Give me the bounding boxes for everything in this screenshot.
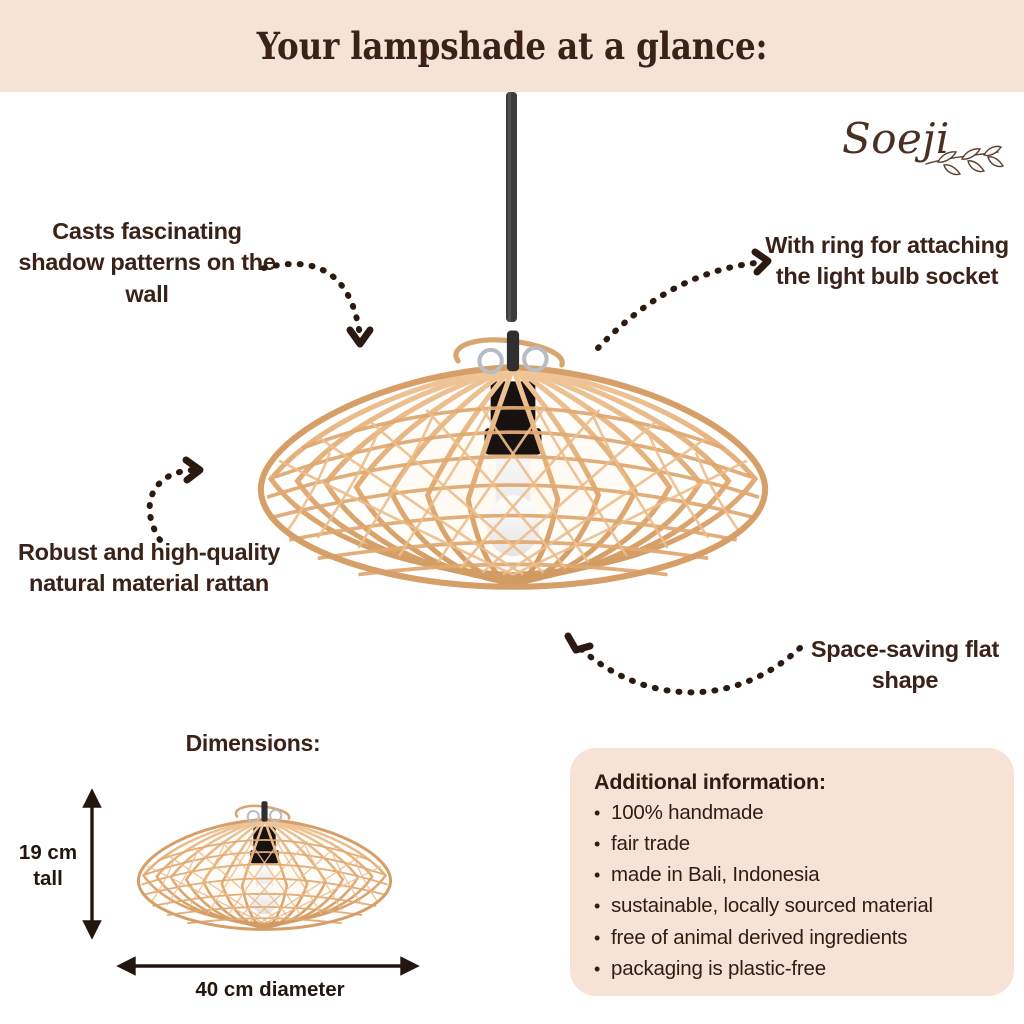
dimension-arrows bbox=[85, 792, 416, 973]
info-card-item: •fair trade bbox=[594, 828, 994, 859]
additional-information-card: Additional information: •100% handmade•f… bbox=[570, 748, 1014, 996]
rattan-arrowhead bbox=[186, 460, 200, 480]
bullet-icon: • bbox=[594, 893, 611, 920]
hanging-cord bbox=[506, 92, 517, 322]
flat-arrow-path bbox=[580, 648, 800, 692]
info-card-item-label: 100% handmade bbox=[611, 797, 763, 828]
info-card-item-label: made in Bali, Indonesia bbox=[611, 859, 820, 890]
info-card-list: •100% handmade•fair trade•made in Bali, … bbox=[594, 797, 994, 984]
info-card-item-label: sustainable, locally sourced material bbox=[611, 890, 933, 921]
header-banner: Your lampshade at a glance: bbox=[0, 0, 1024, 92]
leaf-branch-icon bbox=[838, 112, 1010, 190]
bullet-icon: • bbox=[594, 831, 611, 858]
bullet-icon: • bbox=[594, 800, 611, 827]
width-arrow-right-head bbox=[402, 959, 416, 973]
info-card-title: Additional information: bbox=[594, 770, 994, 795]
callout-shadow-patterns: Casts fascinating shadow patterns on the… bbox=[8, 216, 286, 310]
lampshade-main bbox=[261, 331, 765, 587]
dimension-height-label: 19 cm tall bbox=[8, 840, 88, 891]
dimension-height-value: 19 cm bbox=[8, 840, 88, 866]
shadow-arrowhead bbox=[350, 330, 370, 344]
callout-material-rattan: Robust and high-quality natural material… bbox=[14, 537, 284, 600]
width-arrow-left-head bbox=[120, 959, 134, 973]
bullet-icon: • bbox=[594, 862, 611, 889]
info-card-item: •100% handmade bbox=[594, 797, 994, 828]
dimensions-title: Dimensions: bbox=[108, 730, 398, 757]
ring-arrow-path bbox=[598, 262, 764, 348]
rattan-arrow-path bbox=[150, 470, 196, 540]
info-card-item-label: free of animal derived ingredients bbox=[611, 922, 907, 953]
brand-logo: Soeji bbox=[838, 112, 1010, 190]
info-card-item-label: fair trade bbox=[611, 828, 690, 859]
info-card-item: •made in Bali, Indonesia bbox=[594, 859, 994, 890]
callout-flat-shape: Space-saving flat shape bbox=[800, 634, 1010, 697]
callout-socket-ring: With ring for attaching the light bulb s… bbox=[762, 230, 1012, 293]
lampshade-dimension-thumbnail bbox=[138, 801, 390, 929]
info-card-item-label: packaging is plastic-free bbox=[611, 953, 826, 984]
height-arrow-up-head bbox=[85, 792, 99, 806]
dimension-width-label: 40 cm diameter bbox=[80, 978, 460, 1002]
info-card-item: •packaging is plastic-free bbox=[594, 953, 994, 984]
flat-arrowhead bbox=[568, 636, 590, 650]
bullet-icon: • bbox=[594, 925, 611, 952]
annotation-arrows bbox=[150, 262, 800, 692]
bullet-icon: • bbox=[594, 956, 611, 983]
info-card-item: •free of animal derived ingredients bbox=[594, 922, 994, 953]
info-card-item: •sustainable, locally sourced material bbox=[594, 890, 994, 921]
page-title: Your lampshade at a glance: bbox=[257, 24, 768, 68]
dimension-height-unit: tall bbox=[8, 866, 88, 892]
height-arrow-down-head bbox=[85, 922, 99, 936]
